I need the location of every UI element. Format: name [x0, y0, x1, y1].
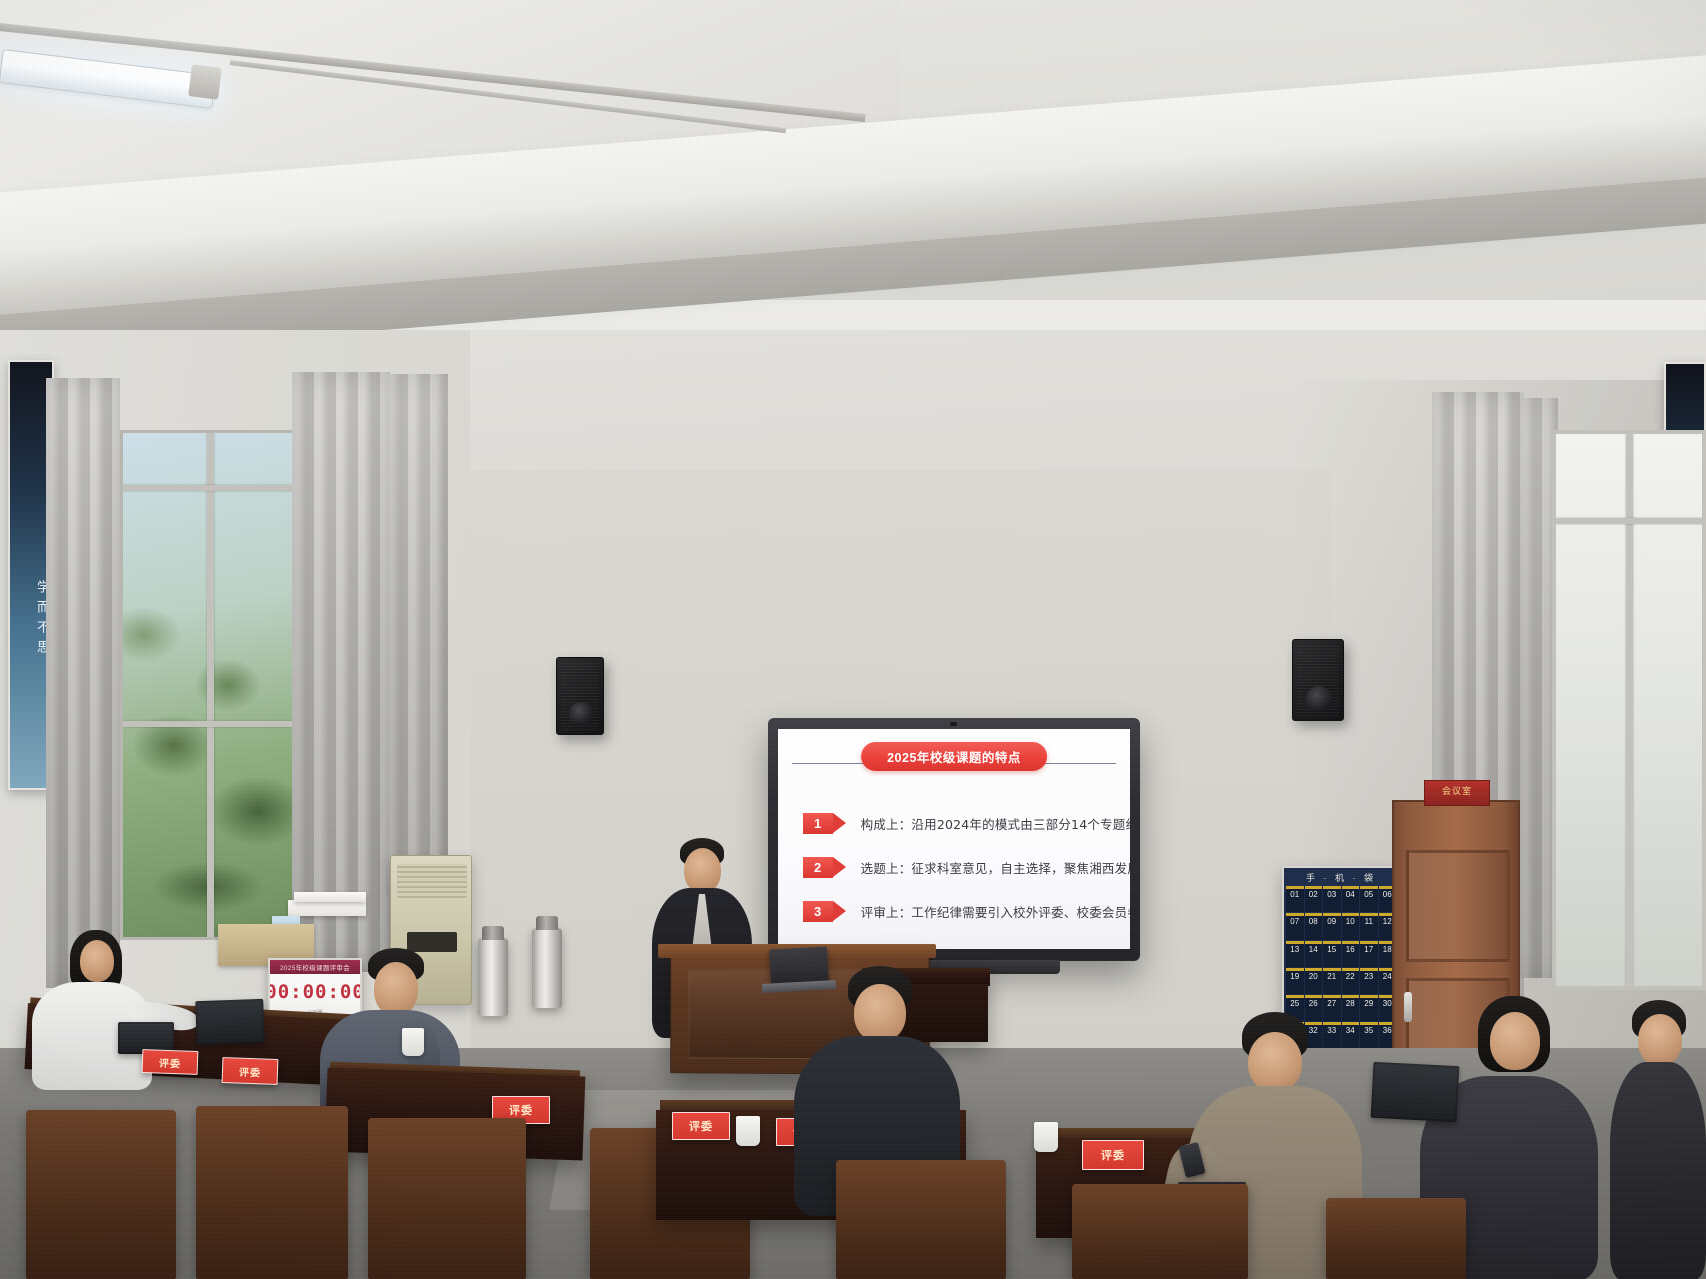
phone-pocket-02[interactable]: 02	[1305, 886, 1323, 912]
window-right-mullion-v	[1626, 434, 1633, 986]
thermos-flask-2-cap	[536, 916, 558, 930]
phone-pocket-04[interactable]: 04	[1342, 886, 1360, 912]
cup-center-1	[736, 1116, 760, 1146]
placard-2: 评委	[222, 1057, 279, 1085]
phone-pocket-20[interactable]: 20	[1305, 968, 1323, 994]
cup-right-1	[1034, 1122, 1058, 1152]
laptop-left-1-screen	[197, 1001, 262, 1043]
window-left	[120, 430, 295, 940]
curtain-left-c[interactable]	[386, 374, 448, 894]
attendee-right-1-head	[1248, 1032, 1302, 1092]
curtain-left-b[interactable]	[292, 372, 390, 972]
attendee-left-1-head	[80, 940, 114, 982]
phone-pocket-13[interactable]: 13	[1286, 941, 1304, 967]
door-panel-upper	[1406, 850, 1510, 962]
placard-4: 评委	[672, 1112, 730, 1140]
slide-canvas: 2025年校级课题的特点 1 构成上：沿用2024年的模式由三部分14个专题组成…	[778, 729, 1130, 949]
thermos-flask-2	[532, 928, 562, 1008]
phone-pocket-16[interactable]: 16	[1342, 941, 1360, 967]
door-sign: 会议室	[1424, 780, 1490, 806]
phone-pocket-19[interactable]: 19	[1286, 968, 1304, 994]
window-mullion-v	[207, 433, 214, 937]
presentation-display[interactable]: 2025年校级课题的特点 1 构成上：沿用2024年的模式由三部分14个专题组成…	[768, 718, 1140, 961]
phone-pocket-11[interactable]: 11	[1360, 913, 1378, 939]
phone-pocket-15[interactable]: 15	[1323, 941, 1341, 967]
display-screen: 2025年校级课题的特点 1 构成上：沿用2024年的模式由三部分14个专题组成…	[778, 729, 1130, 949]
slide-bullet-2-text: 选题上：征求科室意见，自主选择，聚焦湘西发展	[861, 858, 1130, 877]
phone-pocket-35[interactable]: 35	[1360, 1022, 1378, 1048]
slide-bullet-2: 2 选题上：征求科室意见，自主选择，聚焦湘西发展	[803, 857, 1116, 878]
phone-pocket-10[interactable]: 10	[1342, 913, 1360, 939]
chair-front-6[interactable]	[1072, 1184, 1248, 1279]
wall-speaker-left-cone	[569, 702, 593, 726]
slide-bullet-2-number: 2	[803, 857, 833, 878]
phone-pocket-05[interactable]: 05	[1360, 886, 1378, 912]
phone-pocket-08[interactable]: 08	[1305, 913, 1323, 939]
presenter-head	[684, 848, 721, 893]
phone-pocket-row: 131415161718	[1286, 941, 1396, 967]
slide-bullet-1-text: 构成上：沿用2024年的模式由三部分14个专题组成	[861, 814, 1130, 833]
window-mullion-h1	[123, 485, 292, 491]
paper-stack-2	[294, 892, 366, 902]
slide-bullet-1: 1 构成上：沿用2024年的模式由三部分14个专题组成	[803, 813, 1116, 834]
slide-bullet-3-number: 3	[803, 901, 833, 922]
chair-front-5[interactable]	[836, 1160, 1006, 1279]
door-handle[interactable]	[1404, 992, 1412, 1022]
laptop-left-1[interactable]	[195, 999, 264, 1045]
phone-pocket-board-header: 手 · 机 · 袋	[1286, 870, 1396, 886]
attendee-right-3-head	[1638, 1014, 1682, 1066]
conference-room-photo: 学而不思 2025年校级课题的特点	[0, 0, 1706, 1279]
curtain-left-a[interactable]	[46, 378, 120, 988]
phone-pocket-row: 010203040506	[1286, 886, 1396, 912]
wall-speaker-right-cone	[1306, 686, 1332, 712]
slide-bullet-1-number: 1	[803, 813, 833, 834]
chair-front-1[interactable]	[26, 1110, 176, 1279]
phone-pocket-22[interactable]: 22	[1342, 968, 1360, 994]
phone-pocket-01[interactable]: 01	[1286, 886, 1304, 912]
attendee-center-1-head	[854, 984, 906, 1042]
phone-pocket-14[interactable]: 14	[1305, 941, 1323, 967]
attendee-right-3	[1610, 1000, 1706, 1279]
placard-1: 评委	[142, 1049, 199, 1075]
laptop-right-1[interactable]	[1371, 1062, 1460, 1122]
display-camera-icon	[950, 722, 957, 726]
phone-pocket-29[interactable]: 29	[1360, 995, 1378, 1021]
attendee-right-3-jacket	[1610, 1062, 1706, 1279]
phone-pocket-07[interactable]: 07	[1286, 913, 1304, 939]
slide-bullet-3: 3 评审上：工作纪律需要引入校外评委、校委会员参与	[803, 901, 1116, 922]
laptop-left-2-screen	[120, 1024, 172, 1052]
attendee-right-2-head	[1490, 1012, 1540, 1070]
wall-speaker-right	[1292, 639, 1344, 721]
fluorescent-light-1-cap	[188, 64, 222, 99]
phone-pocket-17[interactable]: 17	[1360, 941, 1378, 967]
laptop-right-1-screen	[1373, 1064, 1458, 1120]
air-conditioner-vent	[397, 864, 467, 898]
thermos-flask-1-cap	[482, 926, 504, 940]
window-right-mullion-h	[1556, 518, 1702, 524]
attendee-left-2-head	[374, 962, 418, 1016]
cup-left-1	[402, 1028, 424, 1056]
window-right	[1552, 430, 1706, 990]
slide-bullet-3-text: 评审上：工作纪律需要引入校外评委、校委会员参与	[861, 902, 1130, 921]
wall-speaker-left	[556, 657, 604, 735]
chair-front-7[interactable]	[1326, 1198, 1466, 1279]
paper-stack-1	[288, 900, 366, 916]
phone-pocket-03[interactable]: 03	[1323, 886, 1341, 912]
placard-6: 评委	[1082, 1140, 1144, 1170]
thermos-flask-1	[478, 938, 508, 1016]
phone-pocket-row: 192021222324	[1286, 968, 1396, 994]
phone-pocket-23[interactable]: 23	[1360, 968, 1378, 994]
phone-pocket-09[interactable]: 09	[1323, 913, 1341, 939]
phone-pocket-21[interactable]: 21	[1323, 968, 1341, 994]
chair-front-3[interactable]	[368, 1118, 526, 1279]
attendee-left-1	[26, 930, 156, 1090]
slide-title: 2025年校级课题的特点	[861, 742, 1047, 771]
phone-pocket-row: 070809101112	[1286, 913, 1396, 939]
chair-front-2[interactable]	[196, 1106, 348, 1279]
window-mullion-h2	[123, 721, 292, 727]
